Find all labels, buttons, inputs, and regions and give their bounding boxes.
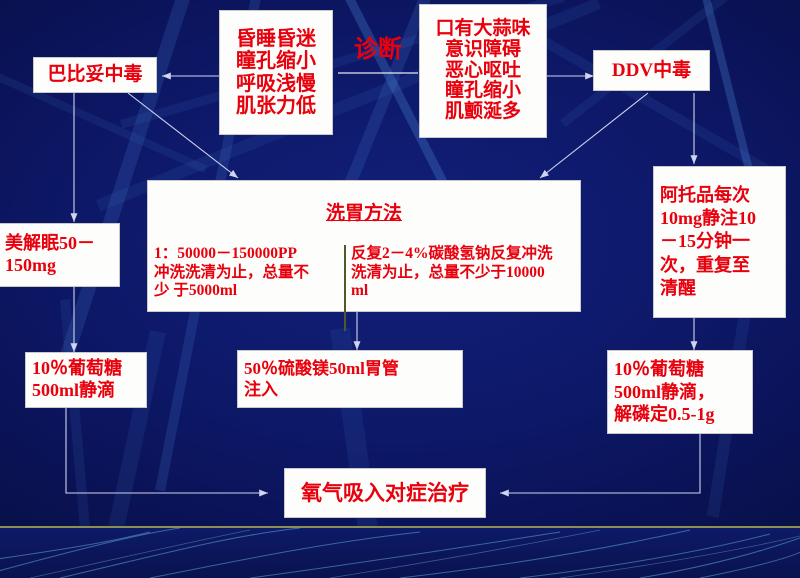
box-barbiturate-poisoning[interactable]: 巴比妥中毒: [33, 57, 157, 93]
lavage-title: 洗胃方法: [148, 203, 580, 225]
connector-glucose-right-to-oxygen: [500, 434, 700, 493]
atropine-line: －15分钟一: [660, 230, 779, 253]
connector-ddv-to-lavage: [540, 93, 648, 178]
box-megimide-dose[interactable]: 美解眠50－ 150mg: [0, 223, 120, 287]
glucose-right-line: 解磷定0.5-1g: [614, 403, 746, 426]
lavage-column-right: 反复2－4%碳酸氢钠反复冲洗 洗清为止，总量不少于10000 ml: [351, 245, 563, 302]
symptom-line: 口有大蒜味: [435, 19, 530, 40]
lavage-columns: 1：50000－150000PP 冲洗洗清为止，总量不 少 于5000ml 反复…: [148, 245, 580, 337]
symptom-line: 瞳孔缩小: [445, 81, 521, 102]
symptom-line: 昏睡昏迷: [236, 28, 316, 50]
ribbon-14: [60, 299, 93, 559]
box-gastric-lavage-method[interactable]: 洗胃方法 1：50000－150000PP 冲洗洗清为止，总量不 少 于5000…: [147, 180, 581, 312]
box-symptoms-barbiturate[interactable]: 昏睡昏迷 瞳孔缩小 呼吸浅慢 肌张力低: [219, 10, 333, 135]
magnesium-line: 50％硫酸镁50ml胃管: [244, 358, 456, 379]
lavage-column-left: 1：50000－150000PP 冲洗洗清为止，总量不 少 于5000ml: [148, 245, 344, 302]
box-magnesium-sulfate[interactable]: 50％硫酸镁50ml胃管 注入: [237, 350, 463, 408]
box-glucose-left[interactable]: 10％葡萄糖 500ml静滴: [25, 352, 147, 408]
box-atropine-dose[interactable]: 阿托品每次 10mg静注10 －15分钟一 次，重复至 清醒: [653, 166, 786, 318]
glucose-right-line: 500ml静滴，: [614, 381, 746, 404]
oxygen-label: 氧气吸入对症治疗: [301, 481, 469, 505]
box-glucose-right[interactable]: 10％葡萄糖 500ml静滴， 解磷定0.5-1g: [607, 350, 753, 434]
bottom-decorative-band: [0, 526, 800, 578]
glucose-left-line: 10％葡萄糖: [32, 358, 140, 380]
diagnosis-text: 诊断: [352, 38, 404, 62]
box-ddv-poisoning[interactable]: DDV中毒: [593, 50, 710, 91]
lavage-column-divider: [344, 245, 346, 331]
symptom-line: 意识障碍: [445, 40, 521, 61]
symptom-line: 肌颤涎多: [445, 102, 521, 123]
connector-glucose-left-to-oxygen: [66, 408, 268, 493]
symptom-line: 呼吸浅慢: [236, 73, 316, 95]
slide-canvas: 巴比妥中毒 昏睡昏迷 瞳孔缩小 呼吸浅慢 肌张力低 诊断 口有大蒜味 意识障碍 …: [0, 0, 800, 578]
bottom-band-lines: [0, 528, 800, 578]
symptom-line: 肌张力低: [236, 95, 316, 117]
box-symptoms-ddv[interactable]: 口有大蒜味 意识障碍 恶心呕吐 瞳孔缩小 肌颤涎多: [419, 4, 547, 138]
atropine-line: 清醒: [660, 277, 779, 300]
atropine-line: 阿托品每次: [660, 184, 779, 207]
megimide-line: 150mg: [5, 255, 113, 277]
diagnosis-label: 诊断: [352, 38, 404, 62]
barbiturate-label: 巴比妥中毒: [47, 64, 142, 86]
atropine-line: 次，重复至: [660, 254, 779, 277]
symptom-line: 恶心呕吐: [445, 61, 521, 82]
magnesium-line: 注入: [244, 379, 456, 400]
atropine-line: 10mg静注10: [660, 207, 779, 230]
megimide-line: 美解眠50－: [5, 233, 113, 255]
symptom-line: 瞳孔缩小: [236, 50, 316, 72]
ddv-label: DDV中毒: [612, 60, 691, 82]
box-oxygen-therapy[interactable]: 氧气吸入对症治疗: [284, 468, 486, 518]
glucose-right-line: 10％葡萄糖: [614, 358, 746, 381]
glucose-left-line: 500ml静滴: [32, 380, 140, 402]
